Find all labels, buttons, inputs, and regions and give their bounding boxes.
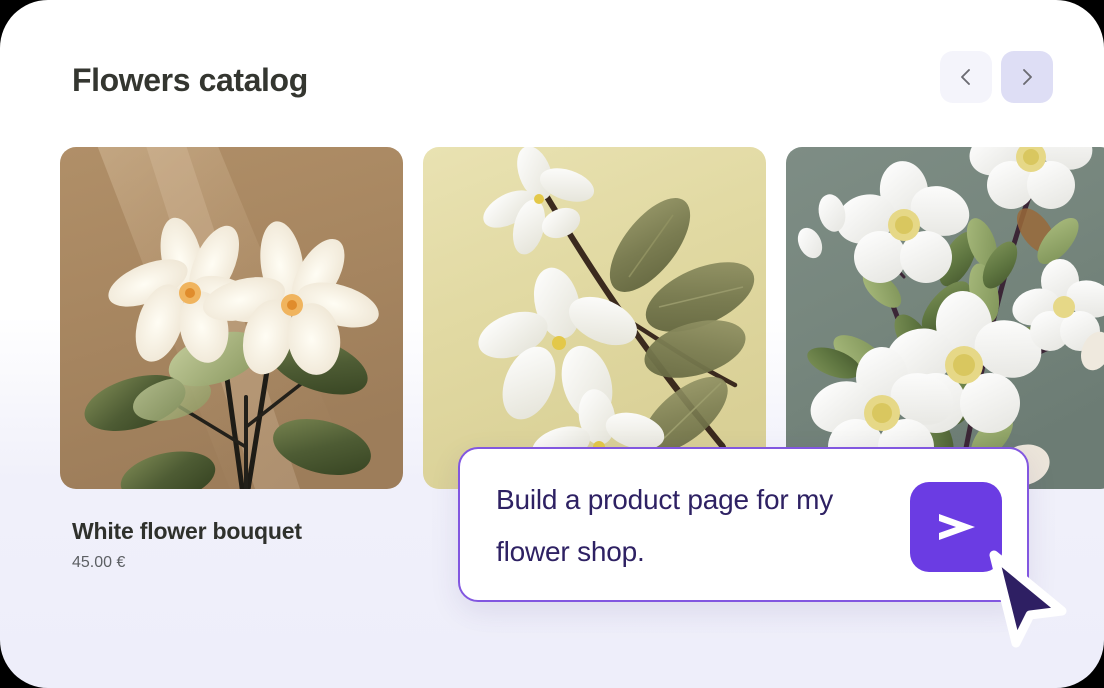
app-panel: Flowers catalog bbox=[0, 0, 1104, 688]
chevron-right-icon bbox=[1016, 66, 1038, 88]
send-arrow-icon bbox=[933, 508, 979, 546]
flower-card-3[interactable] bbox=[786, 147, 1104, 489]
page-title: Flowers catalog bbox=[72, 62, 308, 99]
flower-card-1[interactable] bbox=[60, 147, 403, 489]
flower-image-3 bbox=[786, 147, 1104, 489]
carousel-prev-button[interactable] bbox=[940, 51, 992, 103]
catalog-card-row bbox=[0, 147, 1104, 492]
product-price: 45.00 € bbox=[72, 554, 472, 572]
flower-image-2 bbox=[423, 147, 766, 489]
product-meta: White flower bouquet 45.00 € bbox=[72, 518, 472, 572]
carousel-next-button[interactable] bbox=[1001, 51, 1053, 103]
catalog-header: Flowers catalog bbox=[0, 0, 1104, 147]
product-name: White flower bouquet bbox=[72, 518, 472, 545]
chevron-left-icon bbox=[955, 66, 977, 88]
flower-card-2[interactable] bbox=[423, 147, 766, 489]
send-button[interactable] bbox=[910, 482, 1002, 572]
prompt-input-box[interactable]: Build a product page for my flower shop. bbox=[458, 447, 1029, 602]
prompt-text[interactable]: Build a product page for my flower shop. bbox=[496, 474, 896, 578]
flower-image-1 bbox=[60, 147, 403, 489]
